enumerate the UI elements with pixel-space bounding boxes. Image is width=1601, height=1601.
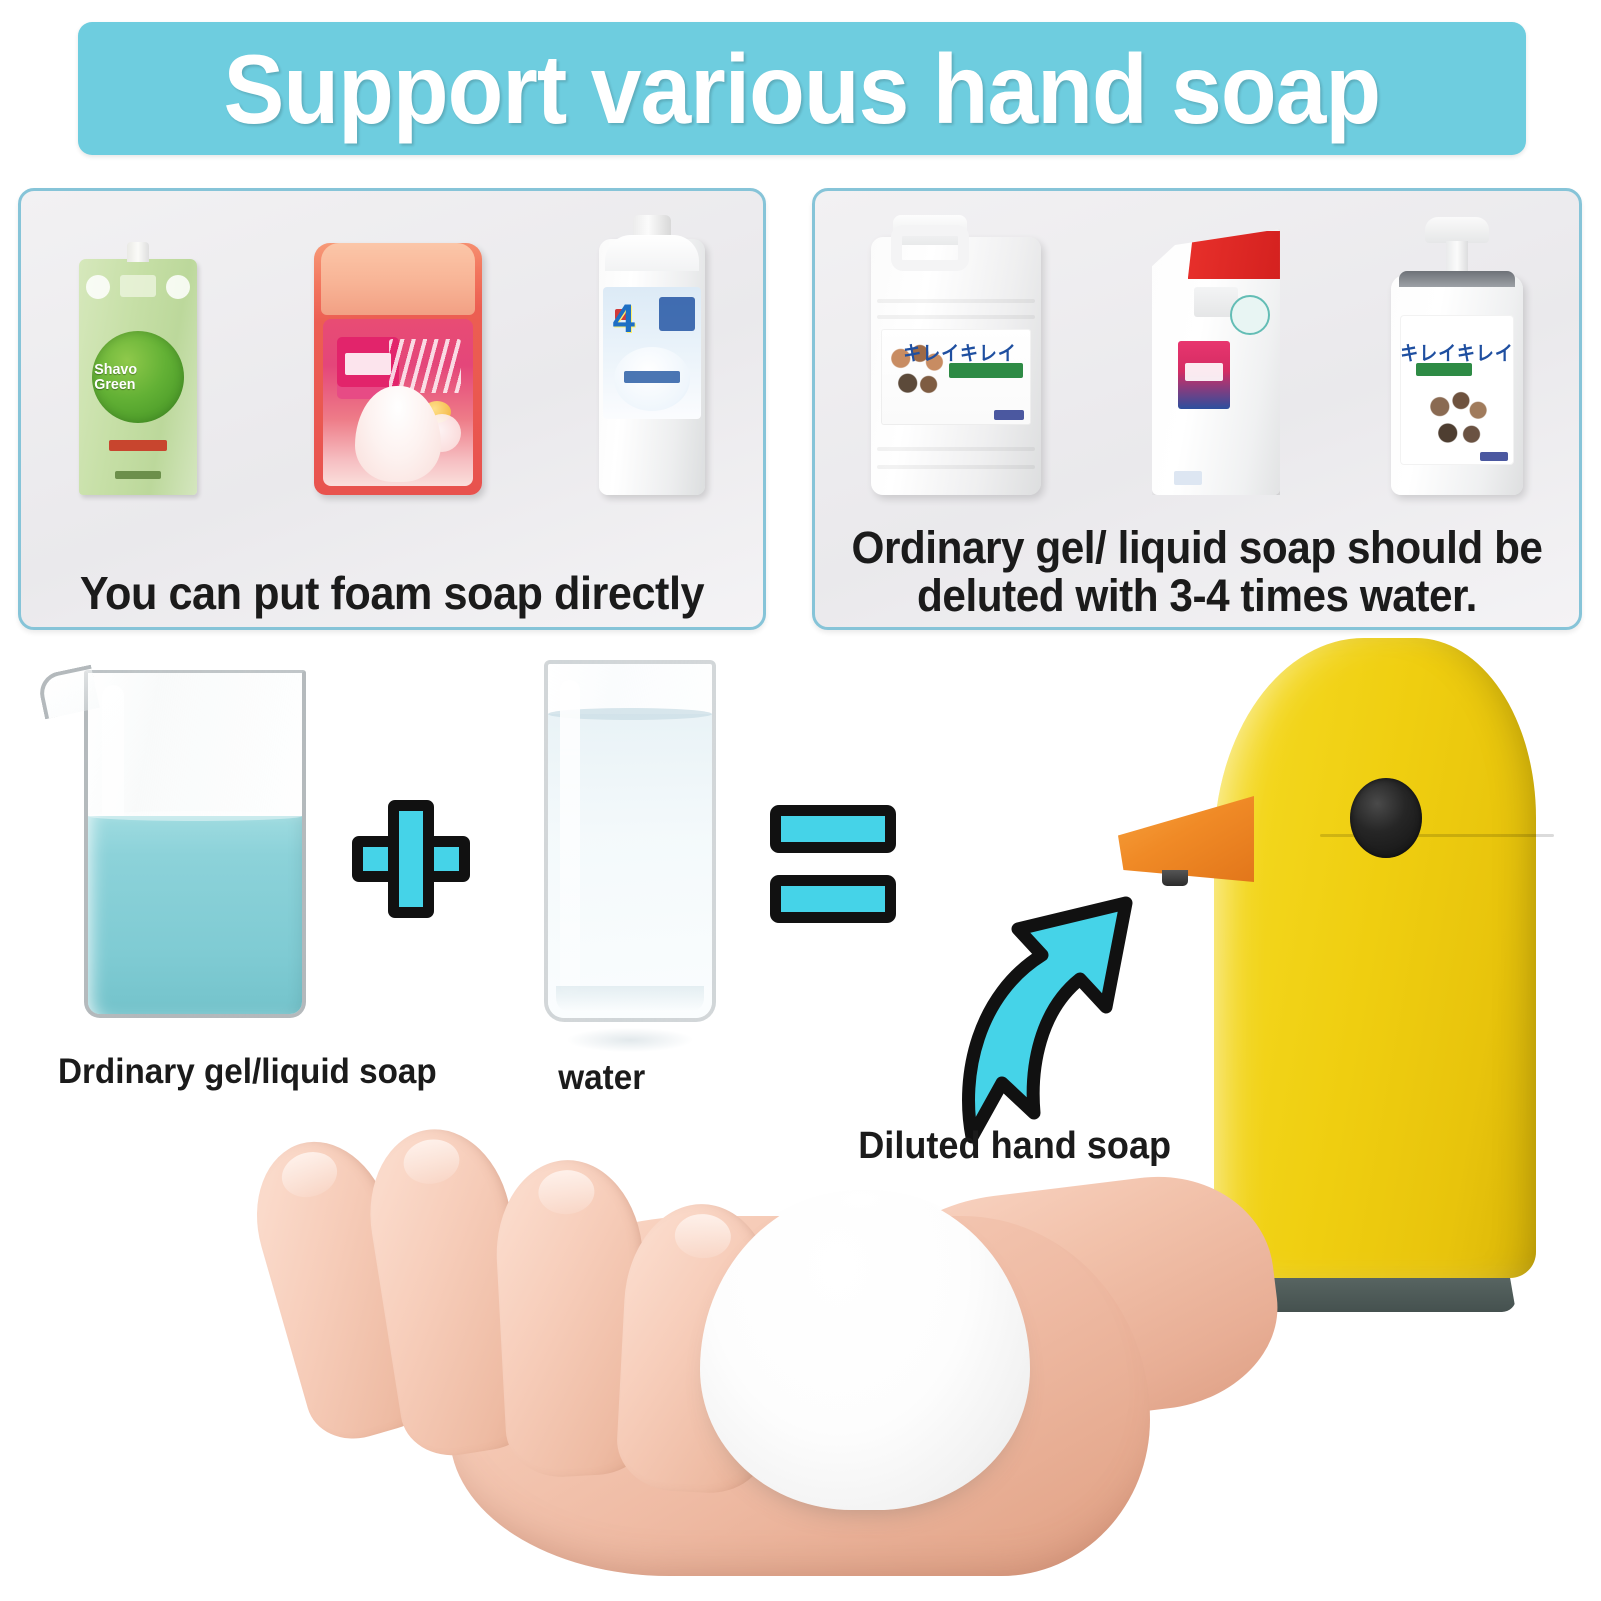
- fingernail-1: [276, 1146, 342, 1204]
- liquid-soap-panel-caption: Ordinary gel/ liquid soap should be delu…: [847, 524, 1546, 621]
- lion-maker-logo: [994, 410, 1024, 420]
- muse-refill-seal-badge: [1230, 295, 1270, 335]
- beaker-label: Drdinary gel/liquid soap: [58, 1052, 437, 1092]
- muse-refill-red-banner: [1188, 231, 1280, 279]
- plus-operator: [352, 800, 470, 918]
- muse-refill-footer-mark: [1174, 471, 1202, 485]
- jug-ridge-4: [877, 465, 1035, 469]
- pump-brand-text: キレイキレイ: [1401, 337, 1514, 366]
- pump-collar: [1399, 271, 1515, 287]
- kirei-kirei-brand-text: キレイキレイ: [903, 337, 1016, 366]
- pouch-badges: [86, 275, 190, 299]
- jug-ridge-2: [877, 315, 1035, 319]
- glass-base: [556, 986, 704, 1012]
- curved-up-arrow-icon: [930, 845, 1200, 1145]
- muse-japanese-text: [389, 339, 461, 393]
- shavo-green-brand-line1: Shavo Green: [95, 362, 182, 393]
- muse-bottle-cap: [321, 243, 475, 315]
- pump-head: [1425, 217, 1489, 243]
- product-shavo-green-refill-pouch: Shavo Green: [79, 259, 197, 495]
- product-muse-foam-soap-cartridge: [314, 243, 482, 495]
- beaker-soap-liquid: [88, 816, 302, 1014]
- glass-reflection: [568, 1028, 692, 1052]
- foam-soap-product-row: Shavo Green: [21, 205, 763, 495]
- glass-highlight: [560, 680, 580, 994]
- fingernail-2: [400, 1136, 462, 1188]
- pump-bottle-label: キレイキレイ: [1400, 315, 1514, 465]
- biore-refill-graphic: 4: [599, 239, 705, 495]
- refill-product-circle: [614, 347, 690, 411]
- jug-label: キレイキレイ: [881, 329, 1031, 425]
- pouch-maker-bar: [115, 471, 161, 479]
- page-title: Support various hand soap: [224, 40, 1381, 138]
- water-glass-icon: [544, 660, 716, 1022]
- product-biore-foam-hand-soap-refill: 4: [599, 239, 705, 495]
- shavo-green-logo: Shavo Green: [92, 331, 184, 423]
- product-kirei-kirei-bulk-jug: キレイキレイ: [871, 237, 1041, 495]
- pump-lion-logo: [1480, 452, 1508, 461]
- beaker-group: [70, 670, 330, 1018]
- jug-handle: [891, 225, 969, 271]
- pump-family-illustration: [1424, 391, 1490, 451]
- dispenser-dispense-tip: [1162, 870, 1188, 886]
- beaker-icon: [84, 670, 306, 1018]
- muse-bottle-label: [323, 319, 473, 486]
- refill-bottle-shoulder: [605, 235, 699, 271]
- product-muse-refill-pouch: [1152, 229, 1280, 495]
- liquid-soap-panel: キレイキレイ キレイキレイ: [812, 188, 1582, 630]
- refill-blue-badge: [659, 297, 695, 331]
- water-glass-group: [520, 660, 740, 1022]
- liquid-soap-product-row: キレイキレイ キレイキレイ: [815, 205, 1579, 495]
- kirei-kirei-pump-graphic: キレイキレイ: [1391, 275, 1523, 495]
- beaker-spout: [36, 665, 100, 720]
- equals-icon: [770, 805, 896, 923]
- fingernail-4: [674, 1213, 732, 1260]
- water-glass-label: water: [558, 1058, 645, 1098]
- foam-soap-panel: Shavo Green: [18, 188, 766, 630]
- muse-refill-pouch-graphic: [1152, 229, 1280, 495]
- equals-operator: [770, 805, 896, 923]
- liquid-soap-caption-line2: deluted with 3-4 times water.: [847, 572, 1546, 621]
- product-kirei-kirei-pump-bottle: キレイキレイ: [1391, 275, 1523, 495]
- jug-ridge-3: [877, 447, 1035, 451]
- refill-bottle-label: 4: [603, 287, 701, 419]
- jug-ridge-1: [877, 299, 1035, 303]
- shavo-green-pouch-graphic: Shavo Green: [79, 259, 197, 495]
- liquid-soap-caption-line1: Ordinary gel/ liquid soap should be: [847, 524, 1546, 573]
- header-banner: Support various hand soap: [78, 22, 1526, 155]
- hand-with-foam: [270, 1128, 1330, 1598]
- dispenser-sensor-icon: [1350, 778, 1422, 858]
- fingernail-3: [537, 1169, 595, 1216]
- foam-soap-panel-caption: You can put foam soap directly: [53, 569, 732, 619]
- pump-green-band: [1416, 363, 1472, 376]
- refill-count-badge: 4: [613, 299, 635, 339]
- muse-foam-graphic: [355, 386, 441, 482]
- muse-refill-label: [1178, 341, 1230, 409]
- pouch-subtitle-bar: [109, 440, 167, 451]
- kirei-kirei-green-band: [949, 363, 1023, 378]
- kirei-kirei-jug-graphic: キレイキレイ: [871, 237, 1041, 495]
- muse-bottle-graphic: [314, 243, 482, 495]
- plus-icon: [352, 800, 470, 918]
